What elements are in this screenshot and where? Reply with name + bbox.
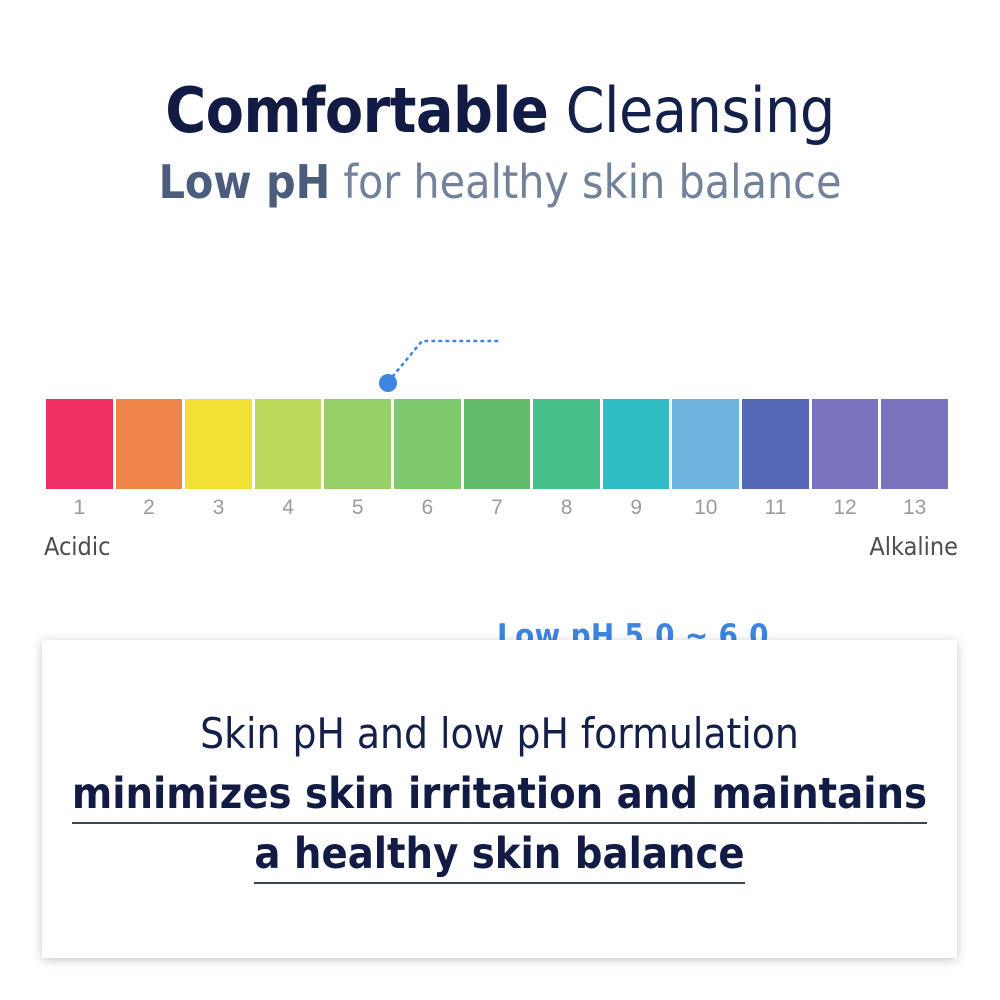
ph-number-9: 9 <box>603 496 670 522</box>
ph-swatch-10 <box>672 399 739 489</box>
ph-swatch-2 <box>116 399 183 489</box>
ph-swatch-5 <box>324 399 391 489</box>
ph-number-5: 5 <box>324 496 391 522</box>
ph-swatch-6 <box>394 399 461 489</box>
ph-number-12: 12 <box>812 496 879 522</box>
statement-line-1: Skin pH and low pH formulation <box>42 708 957 760</box>
statement-panel: Skin pH and low pH formulation minimizes… <box>42 640 957 958</box>
ph-number-2: 2 <box>116 496 183 522</box>
scale-endcap-acidic: Acidic <box>44 532 110 561</box>
statement-line-3-text: a healthy skin balance <box>254 829 744 884</box>
ph-swatch-9 <box>603 399 670 489</box>
page-subtitle: Low pH for healthy skin balance <box>0 154 1000 210</box>
ph-scale-swatches <box>46 399 948 489</box>
ph-swatch-3 <box>185 399 252 489</box>
page-header: Comfortable Cleansing Low pH for healthy… <box>0 74 1000 210</box>
ph-swatch-11 <box>742 399 809 489</box>
ph-number-4: 4 <box>255 496 322 522</box>
ph-number-10: 10 <box>672 496 739 522</box>
ph-number-7: 7 <box>464 496 531 522</box>
ph-marker-dot <box>379 374 397 392</box>
ph-swatch-12 <box>812 399 879 489</box>
statement-line-3: a healthy skin balance <box>42 824 957 884</box>
page-subtitle-strong: Low pH <box>159 155 331 209</box>
page-title: Comfortable Cleansing <box>0 74 1000 148</box>
statement-line-2-text: minimizes skin irritation and maintains <box>72 769 927 824</box>
ph-number-8: 8 <box>533 496 600 522</box>
ph-callout: Low pH 5.0 ~ 6.0 <box>0 300 1000 400</box>
ph-swatch-8 <box>533 399 600 489</box>
page-subtitle-light: for healthy skin balance <box>330 155 841 209</box>
ph-number-3: 3 <box>185 496 252 522</box>
page-title-light: Cleansing <box>548 74 834 147</box>
ph-number-11: 11 <box>742 496 809 522</box>
callout-leader-line <box>0 300 1000 400</box>
ph-number-13: 13 <box>881 496 948 522</box>
callout-dotted-path <box>393 341 500 376</box>
ph-swatch-7 <box>464 399 531 489</box>
ph-number-1: 1 <box>46 496 113 522</box>
ph-swatch-4 <box>255 399 322 489</box>
ph-swatch-1 <box>46 399 113 489</box>
ph-swatch-13 <box>881 399 948 489</box>
ph-scale-numbers: 12345678910111213 <box>46 496 948 522</box>
statement-line-2: minimizes skin irritation and maintains <box>42 764 957 824</box>
scale-endcap-alkaline: Alkaline <box>869 532 958 561</box>
page-title-strong: Comfortable <box>165 74 548 147</box>
ph-number-6: 6 <box>394 496 461 522</box>
statement-panel-content: Skin pH and low pH formulation minimizes… <box>42 640 957 884</box>
